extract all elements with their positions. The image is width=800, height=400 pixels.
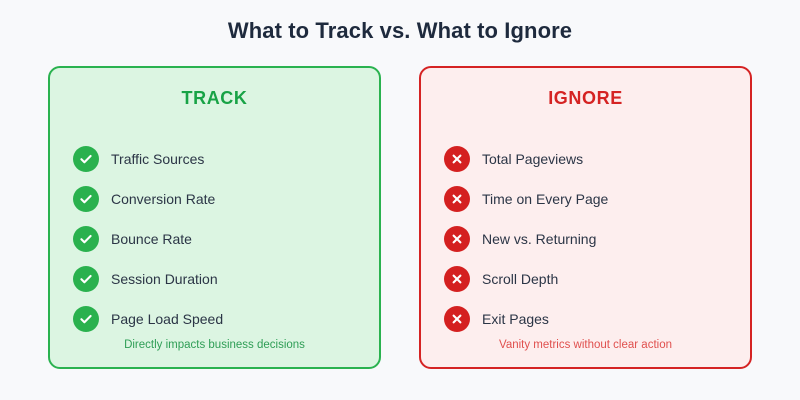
check-circle-icon	[73, 226, 99, 252]
list-item[interactable]: Exit Pages	[444, 299, 736, 339]
ignore-panel-footer: Vanity metrics without clear action	[421, 339, 750, 351]
ignore-panel-heading: IGNORE	[421, 88, 750, 109]
list-item[interactable]: Bounce Rate	[73, 219, 365, 259]
track-item-list: Traffic Sources Conversion Rate Bounce R…	[73, 139, 365, 339]
x-circle-icon	[444, 226, 470, 252]
list-item-label: Conversion Rate	[111, 191, 215, 207]
check-circle-icon	[73, 186, 99, 212]
list-item[interactable]: New vs. Returning	[444, 219, 736, 259]
page-title: What to Track vs. What to Ignore	[0, 18, 800, 44]
ignore-panel: IGNORE Total Pageviews Time on Every Pag…	[419, 66, 752, 369]
track-panel: TRACK Traffic Sources Conversion Rate Bo…	[48, 66, 381, 369]
list-item[interactable]: Scroll Depth	[444, 259, 736, 299]
list-item[interactable]: Session Duration	[73, 259, 365, 299]
list-item-label: Bounce Rate	[111, 231, 192, 247]
list-item-label: New vs. Returning	[482, 231, 596, 247]
list-item[interactable]: Page Load Speed	[73, 299, 365, 339]
check-circle-icon	[73, 306, 99, 332]
list-item-label: Time on Every Page	[482, 191, 608, 207]
x-circle-icon	[444, 146, 470, 172]
list-item-label: Scroll Depth	[482, 271, 558, 287]
list-item[interactable]: Time on Every Page	[444, 179, 736, 219]
x-circle-icon	[444, 306, 470, 332]
list-item-label: Traffic Sources	[111, 151, 204, 167]
check-circle-icon	[73, 266, 99, 292]
x-circle-icon	[444, 186, 470, 212]
x-circle-icon	[444, 266, 470, 292]
list-item[interactable]: Traffic Sources	[73, 139, 365, 179]
track-panel-heading: TRACK	[50, 88, 379, 109]
list-item[interactable]: Conversion Rate	[73, 179, 365, 219]
track-panel-footer: Directly impacts business decisions	[50, 339, 379, 351]
check-circle-icon	[73, 146, 99, 172]
ignore-item-list: Total Pageviews Time on Every Page New v…	[444, 139, 736, 339]
list-item-label: Total Pageviews	[482, 151, 583, 167]
list-item-label: Session Duration	[111, 271, 218, 287]
list-item-label: Page Load Speed	[111, 311, 223, 327]
list-item-label: Exit Pages	[482, 311, 549, 327]
list-item[interactable]: Total Pageviews	[444, 139, 736, 179]
